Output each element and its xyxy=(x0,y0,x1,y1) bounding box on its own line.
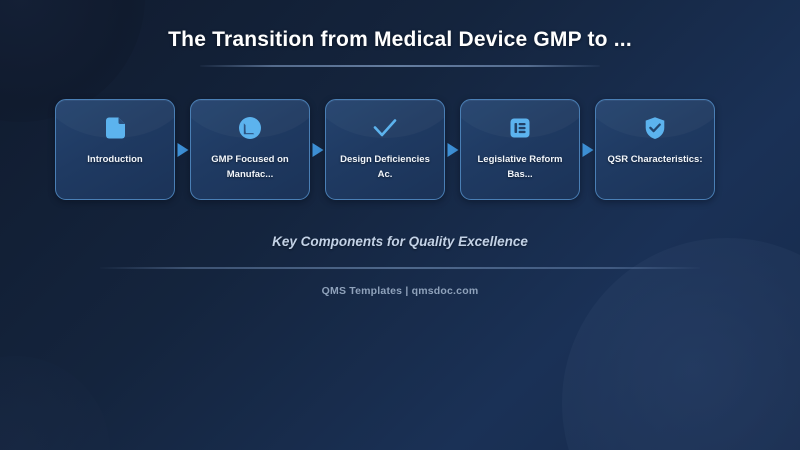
process-card-1[interactable]: Introduction xyxy=(55,99,175,200)
process-card-5[interactable]: QSR Characteristics: xyxy=(595,99,715,200)
flow-arrow-2 xyxy=(310,99,325,200)
document-icon xyxy=(101,114,129,142)
list-document-icon xyxy=(506,114,534,142)
pie-chart-icon xyxy=(236,114,264,142)
check-icon xyxy=(371,114,399,142)
flow-arrow-3 xyxy=(445,99,460,200)
slide-content: The Transition from Medical Device GMP t… xyxy=(0,0,800,450)
shield-check-icon xyxy=(641,114,669,142)
presentation-slide: The Transition from Medical Device GMP t… xyxy=(0,0,800,450)
title-divider xyxy=(200,65,600,67)
flow-arrow-1 xyxy=(175,99,190,200)
process-card-4[interactable]: Legislative Reform Bas... xyxy=(460,99,580,200)
process-card-label: Design Deficiencies Ac. xyxy=(333,152,437,182)
slide-subtitle: Key Components for Quality Excellence xyxy=(0,234,800,249)
flow-arrow-4 xyxy=(580,99,595,200)
page-title: The Transition from Medical Device GMP t… xyxy=(0,26,800,54)
footer-divider xyxy=(100,267,700,269)
process-card-label: QSR Characteristics: xyxy=(603,152,707,167)
process-flow-cards: Introduction GMP Focused on Manufac... xyxy=(55,99,745,200)
process-card-label: Introduction xyxy=(63,152,167,167)
process-card-2[interactable]: GMP Focused on Manufac... xyxy=(190,99,310,200)
process-card-label: GMP Focused on Manufac... xyxy=(198,152,302,182)
process-card-label: Legislative Reform Bas... xyxy=(468,152,572,182)
slide-header: The Transition from Medical Device GMP t… xyxy=(0,26,800,67)
process-card-3[interactable]: Design Deficiencies Ac. xyxy=(325,99,445,200)
slide-footer: QMS Templates | qmsdoc.com xyxy=(0,285,800,297)
